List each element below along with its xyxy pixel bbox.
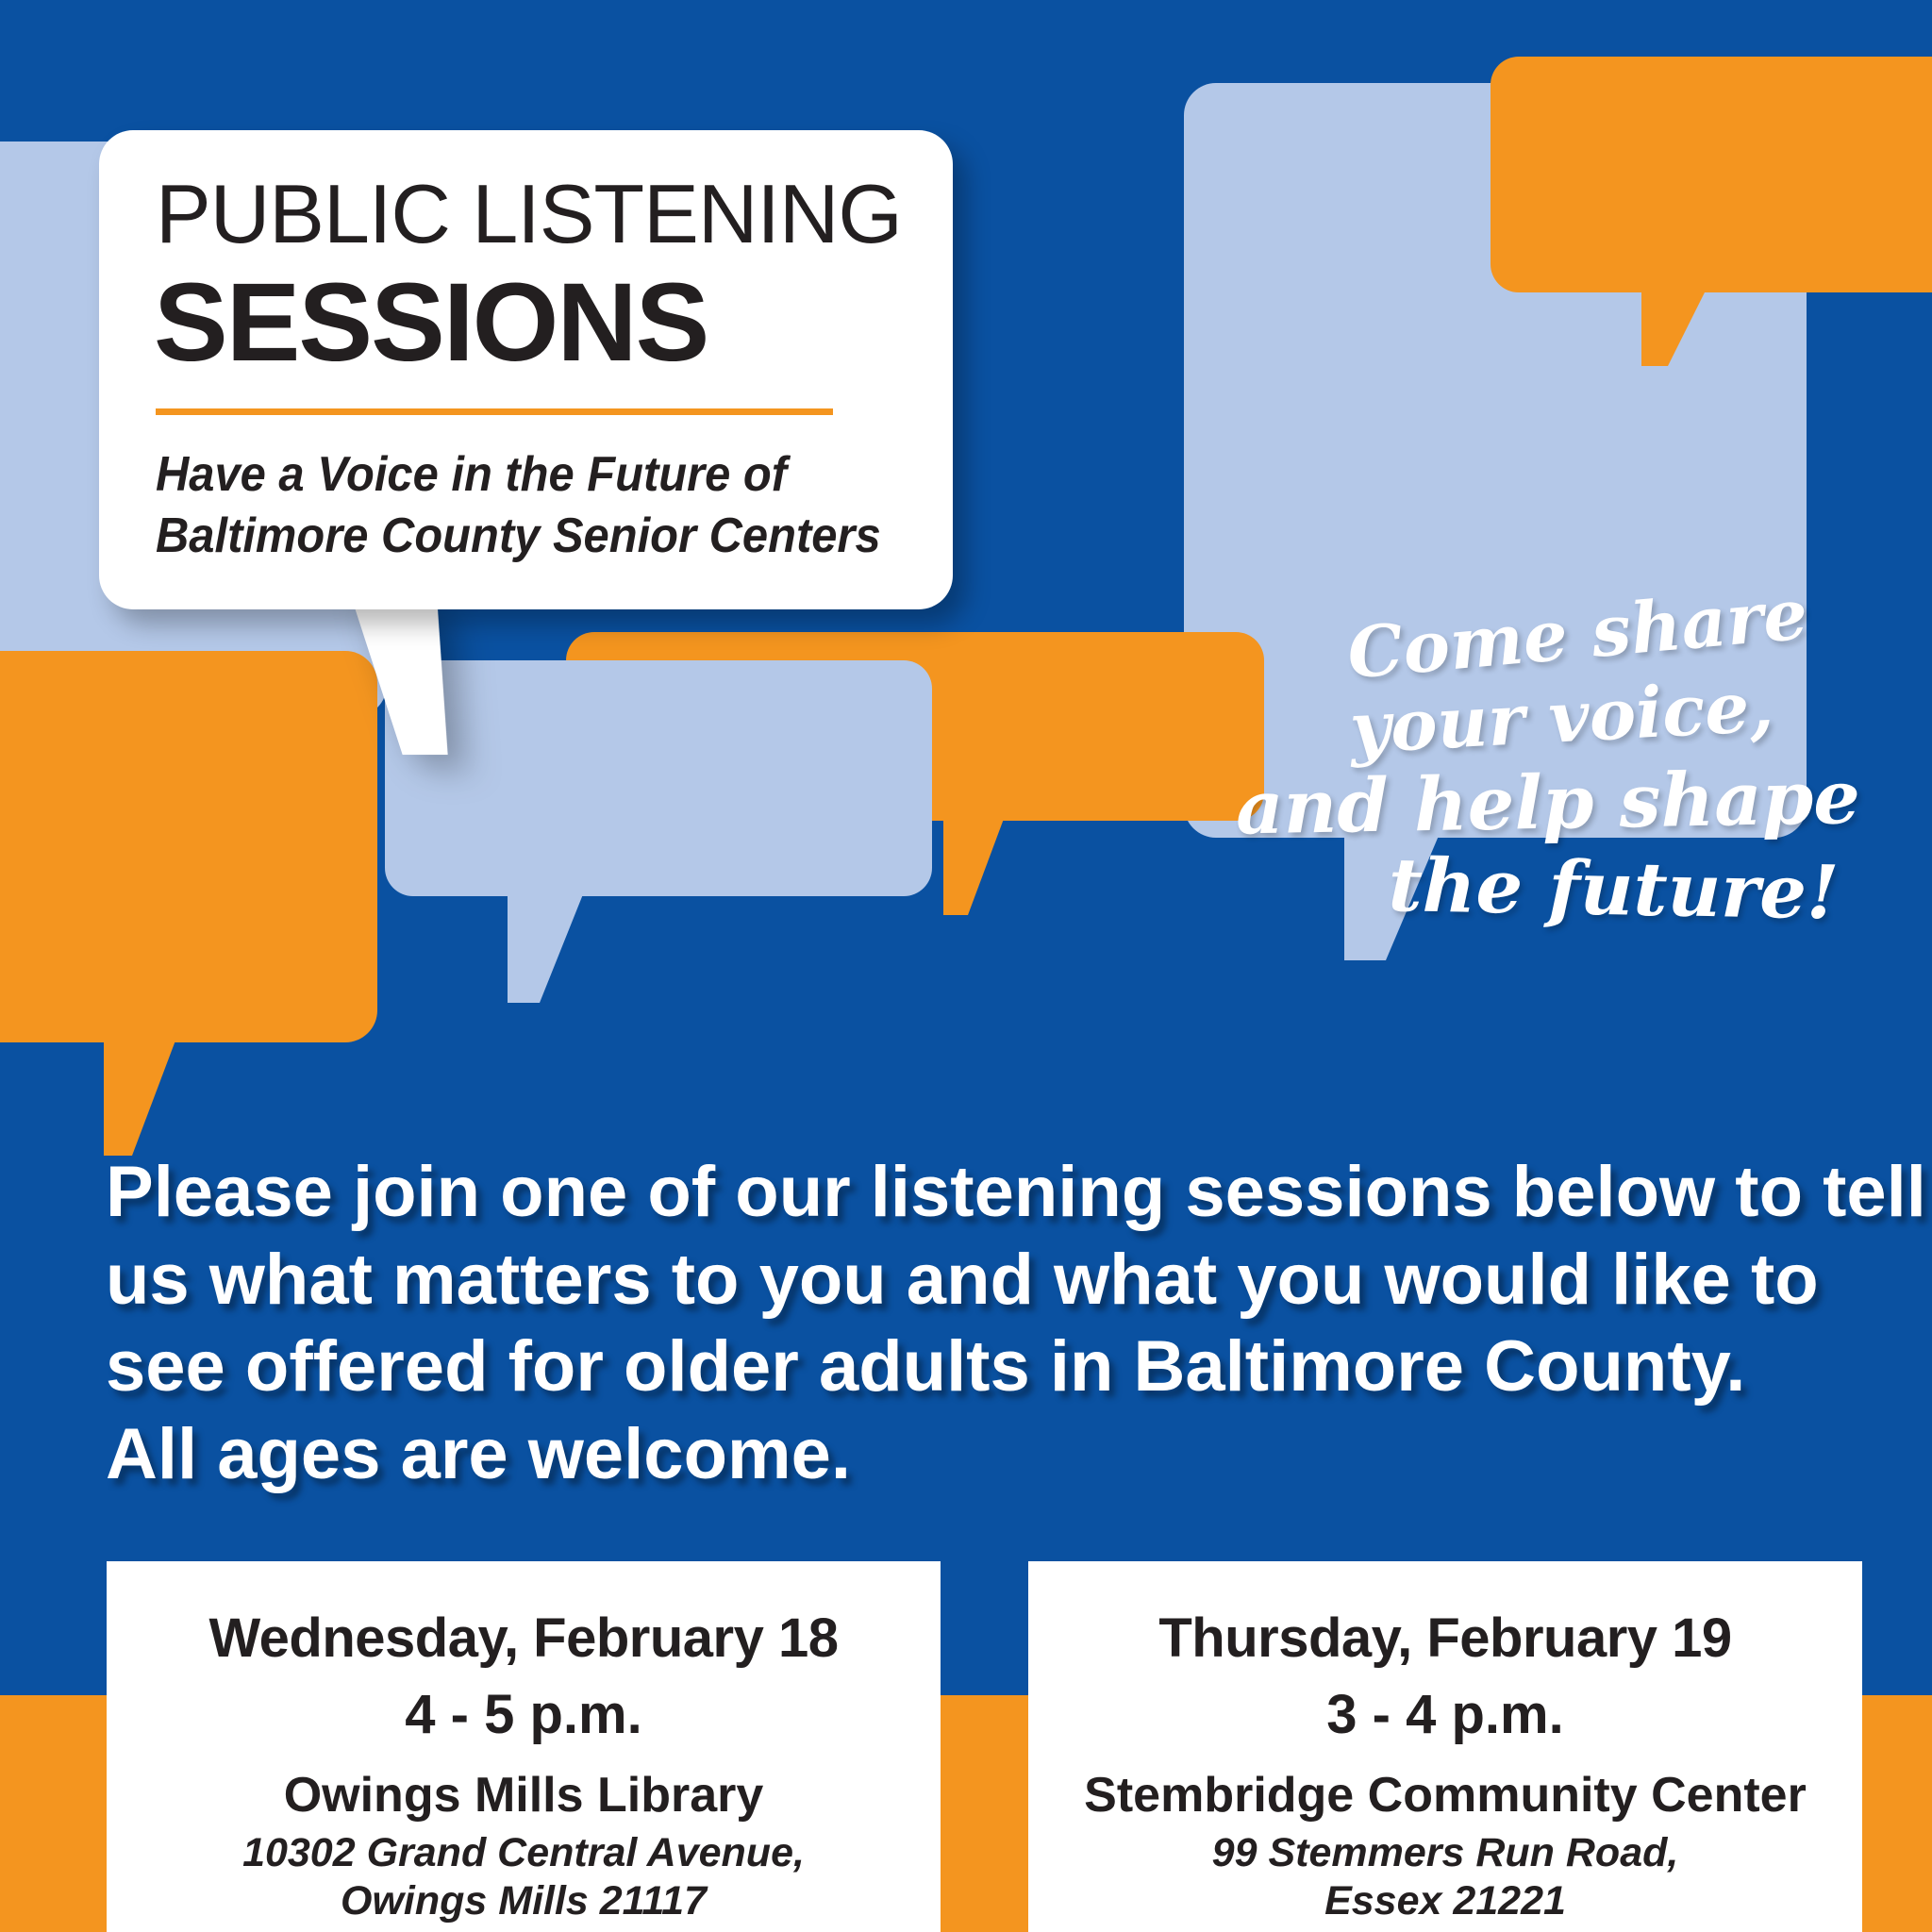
script-callout: Come share your voice, and help shape th… <box>1231 561 1930 1117</box>
subtitle-line-2: Baltimore County Senior Centers <box>156 508 881 564</box>
body-paragraph: Please join one of our listening session… <box>106 1149 1832 1499</box>
bubble-tail <box>104 1041 175 1156</box>
poster-canvas: PUBLIC LISTENING SESSIONS Have a Voice i… <box>0 0 1932 1932</box>
session-address-line-1: 99 Stemmers Run Road, <box>1028 1829 1862 1877</box>
bubble-tail <box>1641 291 1706 366</box>
session-venue: Stembridge Community Center <box>1028 1767 1862 1824</box>
bubble-tail <box>508 894 583 1003</box>
speech-bubble-top-right-orange <box>1491 57 1932 292</box>
title-divider-rule <box>156 408 833 415</box>
session-card-list: Wednesday, February 18 4 - 5 p.m. Owings… <box>0 1561 1932 1932</box>
session-card: Wednesday, February 18 4 - 5 p.m. Owings… <box>107 1561 941 1932</box>
session-venue: Owings Mills Library <box>107 1767 941 1824</box>
session-address: 99 Stemmers Run Road, Essex 21221 <box>1028 1829 1862 1924</box>
session-address-line-2: Essex 21221 <box>1028 1877 1862 1925</box>
session-date: Wednesday, February 18 <box>107 1607 941 1670</box>
body-line-4: All ages are welcome. <box>106 1411 1832 1499</box>
session-card: Thursday, February 19 3 - 4 p.m. Stembri… <box>1028 1561 1862 1932</box>
headline-speech-bubble: PUBLIC LISTENING SESSIONS Have a Voice i… <box>99 130 953 609</box>
session-date: Thursday, February 19 <box>1028 1607 1862 1670</box>
body-line-1: Please join one of our listening session… <box>106 1149 1832 1237</box>
body-line-2: us what matters to you and what you woul… <box>106 1237 1832 1324</box>
session-address: 10302 Grand Central Avenue, Owings Mills… <box>107 1829 941 1924</box>
script-callout-line-3: and help shape <box>1222 754 1874 852</box>
bubble-body <box>1491 57 1932 292</box>
speech-bubble-left-orange <box>0 651 377 1042</box>
bubble-tail <box>943 819 1004 915</box>
body-line-3: see offered for older adults in Baltimor… <box>106 1324 1832 1411</box>
session-time: 3 - 4 p.m. <box>1028 1683 1862 1746</box>
session-address-line-1: 10302 Grand Central Avenue, <box>107 1829 941 1877</box>
bubble-body <box>0 651 377 1042</box>
page-title-line-2: SESSIONS <box>154 258 708 387</box>
session-address-line-2: Owings Mills 21117 <box>107 1877 941 1925</box>
script-callout-line-4: the future! <box>1288 841 1932 939</box>
session-time: 4 - 5 p.m. <box>107 1683 941 1746</box>
subtitle-line-1: Have a Voice in the Future of <box>156 446 787 503</box>
page-title-line-1: PUBLIC LISTENING <box>156 166 902 262</box>
